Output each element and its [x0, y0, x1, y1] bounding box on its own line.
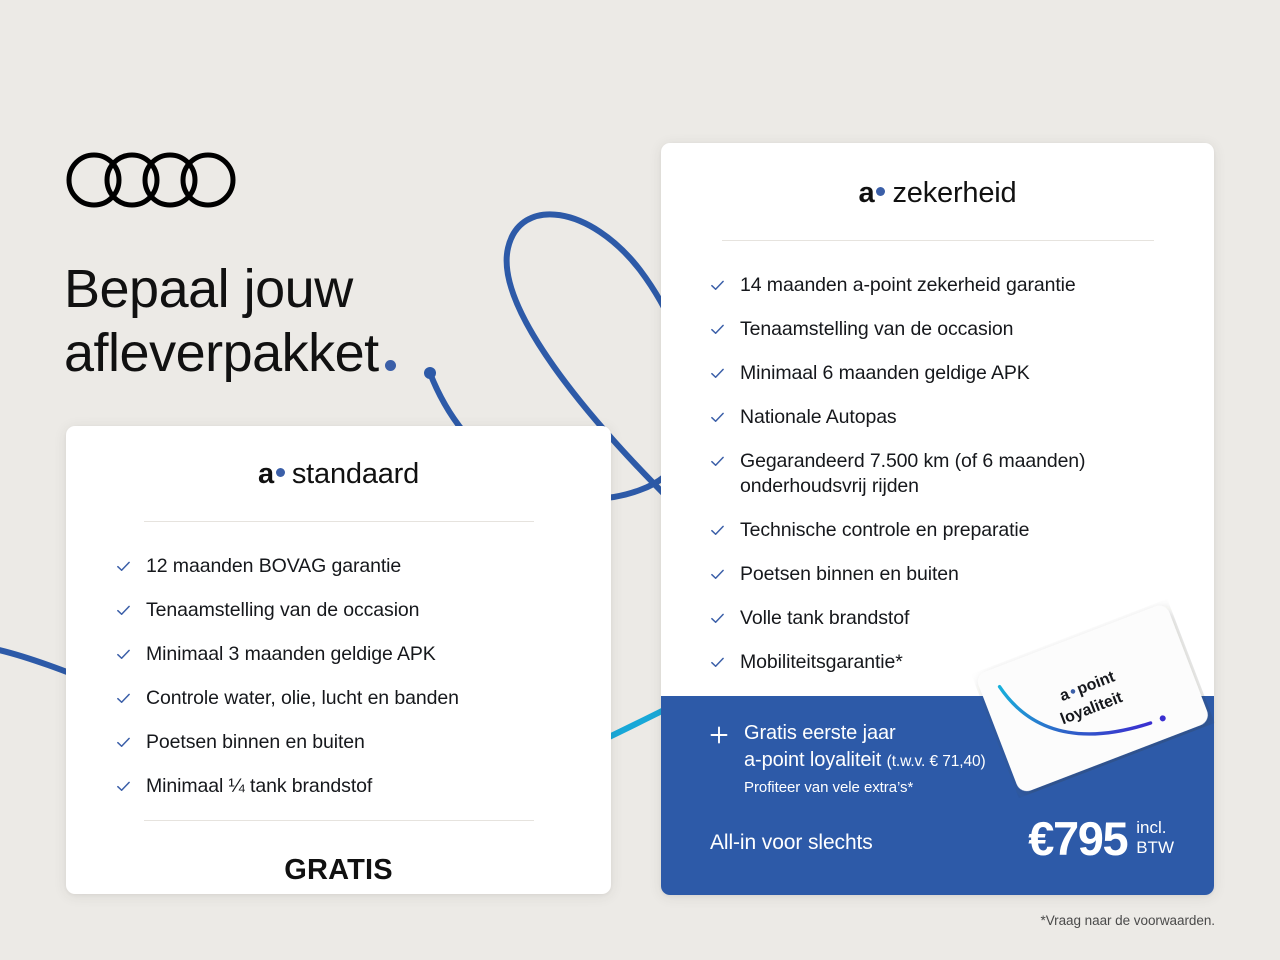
card-title-text: zekerheid	[892, 177, 1016, 209]
package-card-standaard[interactable]: astandaard 12 maanden BOVAG garantie Ten…	[66, 426, 611, 894]
check-icon	[710, 523, 725, 538]
check-icon	[710, 322, 725, 337]
feature-text: Volle tank brandstof	[740, 606, 909, 631]
price-suffix: incl. BTW	[1136, 818, 1174, 859]
check-icon	[116, 603, 131, 618]
price-suffix-line-1: incl.	[1136, 818, 1174, 837]
feature-text: Tenaamstelling van de occasion	[740, 317, 1013, 342]
price-amount: €795	[1028, 815, 1127, 862]
check-icon	[116, 735, 131, 750]
price-row: All-in voor slechts €795 incl. BTW	[710, 815, 1174, 862]
price-suffix-line-2: BTW	[1136, 838, 1174, 857]
page-title: Bepaal jouw afleverpakket	[64, 258, 534, 385]
card-title-a: a	[859, 177, 875, 209]
check-icon	[116, 691, 131, 706]
price-divider	[144, 820, 534, 821]
list-item: Nationale Autopas	[710, 405, 1160, 430]
check-icon	[710, 366, 725, 381]
price-label-standaard: GRATIS	[66, 854, 611, 887]
feature-text: Gegarandeerd 7.500 km (of 6 maanden) ond…	[740, 449, 1160, 499]
title-divider	[144, 521, 534, 522]
list-item: Technische controle en preparatie	[710, 518, 1160, 543]
card-title-text: standaard	[292, 458, 419, 490]
check-icon	[710, 567, 725, 582]
card-title-dot	[876, 187, 885, 196]
feature-text: Minimaal 3 maanden geldige APK	[146, 642, 436, 667]
title-divider	[722, 240, 1154, 241]
list-item: 12 maanden BOVAG garantie	[116, 554, 611, 579]
check-icon	[710, 611, 725, 626]
list-item: Poetsen binnen en buiten	[710, 562, 1160, 587]
list-item: Minimaal 3 maanden geldige APK	[116, 642, 611, 667]
list-item: Controle water, olie, lucht en banden	[116, 686, 611, 711]
feature-text: Nationale Autopas	[740, 405, 897, 430]
check-icon	[710, 410, 725, 425]
feature-text: 12 maanden BOVAG garantie	[146, 554, 401, 579]
feature-text: Poetsen binnen en buiten	[146, 730, 365, 755]
footnote-text: *Vraag naar de voorwaarden.	[1040, 913, 1215, 928]
feature-list-standaard: 12 maanden BOVAG garantie Tenaamstelling…	[116, 554, 611, 799]
check-icon	[116, 779, 131, 794]
list-item: Tenaamstelling van de occasion	[710, 317, 1160, 342]
package-card-zekerheid[interactable]: azekerheid 14 maanden a-point zekerheid …	[661, 143, 1214, 895]
card-title-a: a	[258, 458, 274, 490]
list-item: Gegarandeerd 7.500 km (of 6 maanden) ond…	[710, 449, 1160, 499]
list-item: Minimaal ¼ tank brandstof	[116, 774, 611, 799]
check-icon	[710, 278, 725, 293]
promo-page: Bepaal jouw afleverpakket astandaard 12 …	[0, 0, 1280, 960]
headline-line-1: Bepaal jouw	[64, 259, 353, 319]
loyalty-line-2-note: (t.w.v. € 71,40)	[887, 753, 986, 770]
list-item: 14 maanden a-point zekerheid garantie	[710, 273, 1160, 298]
feature-text: Tenaamstelling van de occasion	[146, 598, 419, 623]
feature-text: Poetsen binnen en buiten	[740, 562, 959, 587]
plus-icon	[710, 726, 728, 744]
feature-text: Controle water, olie, lucht en banden	[146, 686, 459, 711]
check-icon	[116, 559, 131, 574]
list-item: Minimaal 6 maanden geldige APK	[710, 361, 1160, 386]
loyalty-line-3: Profiteer van vele extra’s*	[744, 779, 986, 796]
card-title-zekerheid: azekerheid	[661, 177, 1214, 210]
feature-text: Minimaal ¼ tank brandstof	[146, 774, 372, 799]
price-group: €795 incl. BTW	[1028, 815, 1174, 862]
feature-text: 14 maanden a-point zekerheid garantie	[740, 273, 1076, 298]
check-icon	[116, 647, 131, 662]
card-title-dot	[276, 468, 285, 477]
feature-text: Technische controle en preparatie	[740, 518, 1029, 543]
headline-line-2: afleverpakket	[64, 323, 379, 383]
feature-text: Mobiliteitsgarantie*	[740, 650, 903, 675]
headline-accent-dot	[385, 360, 396, 371]
audi-four-rings-logo	[66, 152, 236, 208]
loyalty-offer: Gratis eerste jaar a-point loyaliteit (t…	[710, 720, 986, 796]
loyalty-line-2-main: a-point loyaliteit	[744, 749, 881, 771]
feature-text: Minimaal 6 maanden geldige APK	[740, 361, 1030, 386]
price-caption: All-in voor slechts	[710, 831, 873, 862]
list-item: Tenaamstelling van de occasion	[116, 598, 611, 623]
check-icon	[710, 655, 725, 670]
card-title-standaard: astandaard	[66, 458, 611, 491]
loyalty-line-1: Gratis eerste jaar	[744, 720, 986, 747]
list-item: Poetsen binnen en buiten	[116, 730, 611, 755]
check-icon	[710, 454, 725, 469]
